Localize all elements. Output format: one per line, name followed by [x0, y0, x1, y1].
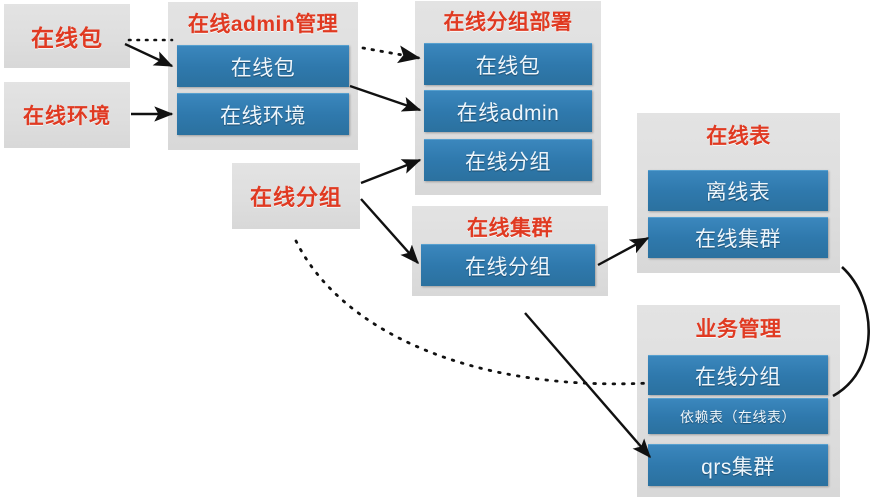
item-label: 离线表	[706, 176, 771, 206]
connector-cluster-to-qrs-cluster	[525, 313, 650, 457]
group-online-admin-mgmt-item-1[interactable]: 在线环境	[177, 93, 349, 135]
connector-pkg-to-admin-pkg	[125, 40, 172, 66]
group-online-table-item-1[interactable]: 在线集群	[648, 217, 828, 258]
group-business-mgmt-item-0[interactable]: 在线分组	[648, 355, 828, 395]
group-online-group-deploy-title: 在线分组部署	[415, 6, 601, 36]
group-online-cluster-item-0[interactable]: 在线分组	[421, 244, 595, 286]
node-online-env-label: 在线环境	[23, 100, 111, 130]
group-business-mgmt-item-1[interactable]: 依赖表（在线表）	[648, 398, 828, 434]
item-label: 在线admin	[457, 97, 560, 127]
connector-group-to-deploy-group	[361, 160, 420, 183]
group-online-table-item-0[interactable]: 离线表	[648, 170, 828, 211]
item-label: 在线环境	[220, 100, 306, 130]
group-online-cluster-title: 在线集群	[412, 212, 608, 242]
item-label: 依赖表（在线表）	[680, 407, 796, 427]
group-online-group-deploy-item-1[interactable]: 在线admin	[424, 90, 592, 132]
node-online-env: 在线环境	[4, 82, 130, 148]
node-online-package: 在线包	[4, 4, 130, 68]
connector-admin-pkg-to-deploy-pkg	[363, 48, 419, 58]
item-label: 在线分组	[695, 361, 781, 391]
group-online-admin-mgmt-title: 在线admin管理	[168, 8, 358, 38]
group-online-group-deploy-item-0[interactable]: 在线包	[424, 43, 592, 85]
group-online-admin-mgmt-item-0[interactable]: 在线包	[177, 45, 349, 87]
group-online-table-title: 在线表	[637, 120, 840, 150]
item-label: 在线分组	[465, 146, 551, 176]
group-business-mgmt-title: 业务管理	[637, 313, 840, 343]
item-label: 在线集群	[695, 223, 781, 253]
node-online-group: 在线分组	[232, 163, 360, 229]
diagram-canvas: 在线包 在线环境 在线分组 在线admin管理 在线包 在线环境 在线分组部署 …	[0, 0, 886, 497]
item-label: qrs集群	[701, 451, 775, 481]
group-online-group-deploy-item-2[interactable]: 在线分组	[424, 139, 592, 181]
item-label: 在线包	[476, 50, 541, 80]
item-label: 在线分组	[465, 251, 551, 281]
group-business-mgmt-item-2[interactable]: qrs集群	[648, 444, 828, 486]
item-label: 在线包	[231, 52, 296, 82]
connector-admin-pkg-to-deploy-admin	[350, 86, 420, 110]
node-online-package-label: 在线包	[31, 19, 103, 53]
node-online-group-label: 在线分组	[250, 180, 342, 212]
connector-group-to-cluster-group	[361, 199, 418, 263]
